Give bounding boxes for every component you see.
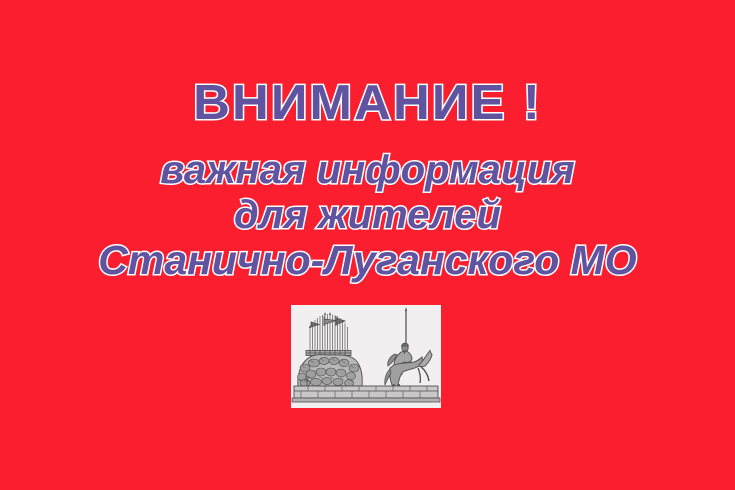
subtitle-line-1: важная информация (0, 148, 735, 193)
monument-line-art (291, 305, 441, 408)
subtitle-line-3: Станично-Луганского МО (0, 238, 735, 283)
announcement-poster: ВНИМАНИЕ ! важная информация для жителей… (0, 0, 735, 490)
subtitle-block: важная информация для жителей Станично-Л… (0, 148, 735, 283)
monument-emblem-image (291, 305, 441, 408)
page-title: ВНИМАНИЕ ! (0, 78, 735, 128)
subtitle-line-2: для жителей (0, 193, 735, 238)
